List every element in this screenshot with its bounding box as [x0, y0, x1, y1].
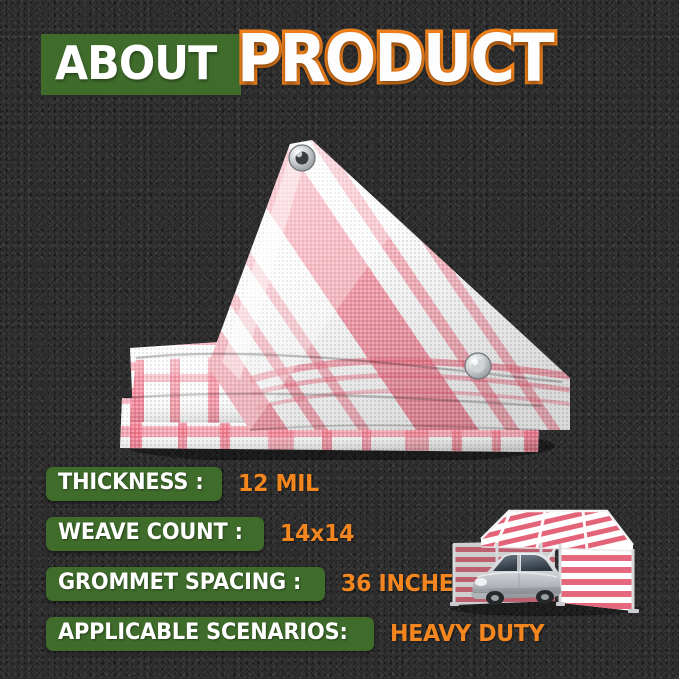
spec-badge: THICKNESS :: [46, 467, 222, 500]
spec-label: APPLICABLE SCENARIOS:: [58, 621, 348, 644]
page-title: ABOUT PRODUCT: [41, 34, 580, 95]
grommet-icon: [289, 145, 315, 171]
spec-value: 14x14: [280, 521, 354, 547]
folded-tarp-illustration: [100, 130, 570, 460]
carport-illustration: [437, 503, 645, 618]
spec-row-thickness: THICKNESS : 12 MIL: [46, 462, 551, 506]
product-photo: [100, 130, 570, 460]
grommet-icon: [465, 353, 491, 379]
spec-badge: WEAVE COUNT :: [46, 517, 264, 550]
spec-value: 12 MIL: [238, 471, 319, 497]
spec-label: THICKNESS :: [58, 471, 204, 494]
spec-badge: APPLICABLE SCENARIOS:: [46, 617, 374, 650]
spec-label: GROMMET SPACING :: [58, 571, 301, 594]
about-badge: ABOUT: [41, 34, 241, 95]
carport-inset-photo: [437, 503, 645, 618]
spec-badge: GROMMET SPACING :: [46, 567, 325, 600]
spec-label: WEAVE COUNT :: [58, 521, 243, 544]
spec-value: HEAVY DUTY: [390, 621, 544, 647]
about-label: ABOUT: [55, 40, 216, 86]
spec-row-applicable-scenarios: APPLICABLE SCENARIOS: HEAVY DUTY: [46, 612, 551, 656]
product-label: PRODUCT: [237, 26, 553, 92]
infographic-canvas: ABOUT PRODUCT: [0, 0, 679, 679]
